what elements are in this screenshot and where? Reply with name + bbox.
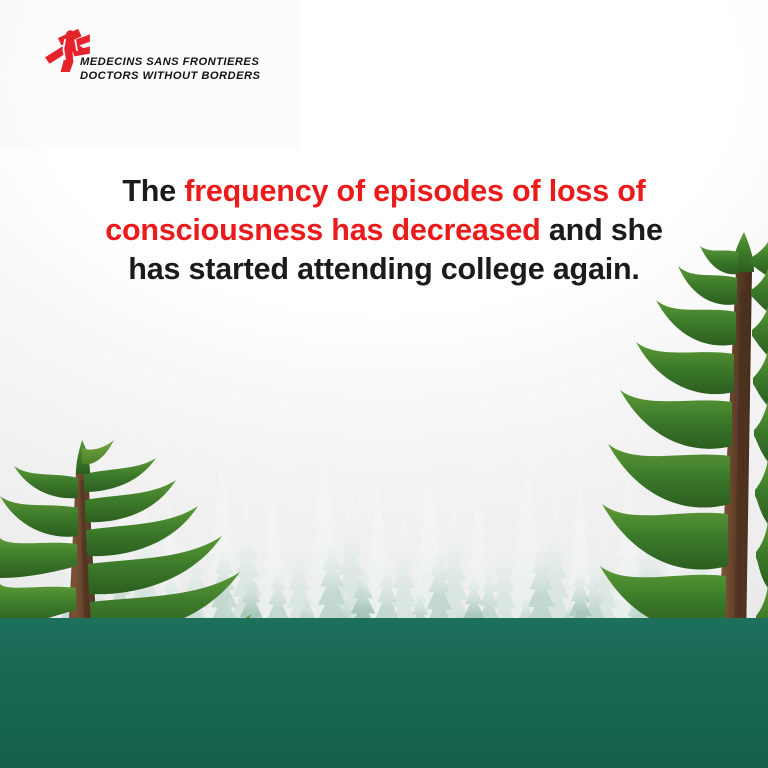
- headline-message: The frequency of episodes of loss of con…: [104, 172, 664, 289]
- headline-lead: The: [122, 174, 184, 208]
- msf-wordmark: MEDECINS SANS FRONTIERES DOCTORS WITHOUT…: [80, 56, 256, 83]
- social-card: MEDECINS SANS FRONTIERES DOCTORS WITHOUT…: [0, 0, 768, 768]
- msf-logo[interactable]: MEDECINS SANS FRONTIERES DOCTORS WITHOUT…: [44, 28, 254, 94]
- org-name-english: DOCTORS WITHOUT BORDERS: [80, 70, 256, 84]
- ground-band: [0, 618, 768, 768]
- forest-illustration: [0, 0, 768, 768]
- org-name-french: MEDECINS SANS FRONTIERES: [80, 56, 256, 70]
